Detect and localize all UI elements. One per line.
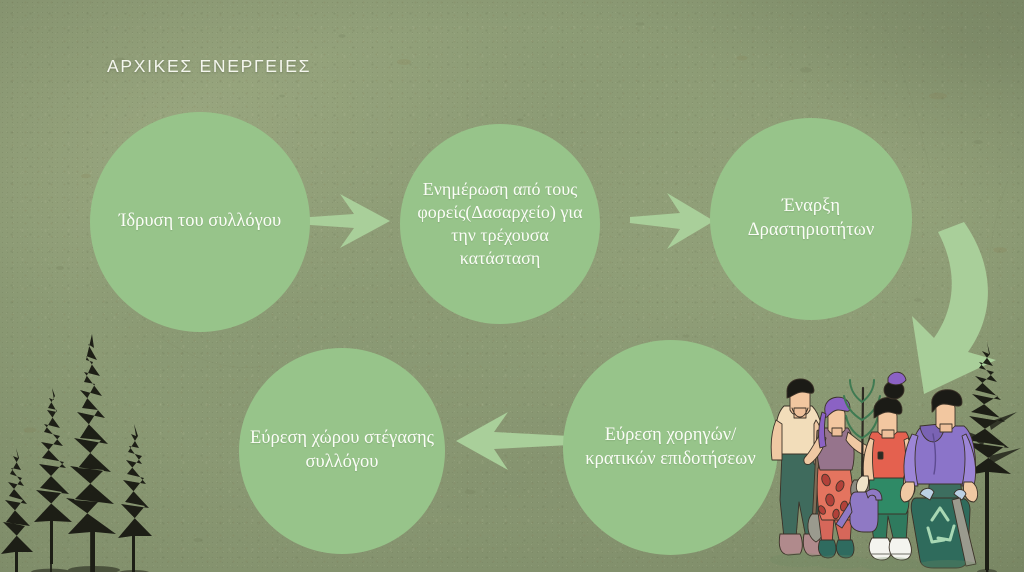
flow-node-label: Εύρεση χώρου στέγασης συλλόγου (239, 427, 445, 474)
volunteers-planting-illustration (770, 368, 998, 572)
flow-node-founding[interactable]: Ίδρυση του συλλόγου (90, 112, 310, 332)
flow-node-label: Ίδρυση του συλλόγου (105, 210, 295, 234)
flow-node-sponsors[interactable]: Εύρεση χορηγών/ κρατικών επιδοτήσεων (563, 340, 778, 555)
slide-canvas: ΑΡΧΙΚΕΣ ΕΝΕΡΓΕΙΕΣ Ίδρυση του συλλόγου Εν… (0, 0, 1024, 572)
page-title: ΑΡΧΙΚΕΣ ΕΝΕΡΓΕΙΕΣ (107, 56, 311, 77)
arrow-right-icon (630, 190, 716, 252)
flow-node-label: Έναρξη Δραστηριοτήτων (710, 195, 912, 242)
arrow-left-icon (450, 408, 570, 478)
flow-node-information[interactable]: Ενημέρωση από τους φορείς(Δασαρχείο) για… (400, 124, 600, 324)
flow-node-activities-start[interactable]: Έναρξη Δραστηριοτήτων (710, 118, 912, 320)
flow-node-venue[interactable]: Εύρεση χώρου στέγασης συλλόγου (239, 348, 445, 554)
flow-node-label: Εύρεση χορηγών/ κρατικών επιδοτήσεων (563, 424, 778, 471)
pine-trees-icon (0, 326, 194, 572)
flow-node-label: Ενημέρωση από τους φορείς(Δασαρχείο) για… (400, 178, 600, 270)
arrow-right-icon (296, 190, 394, 252)
